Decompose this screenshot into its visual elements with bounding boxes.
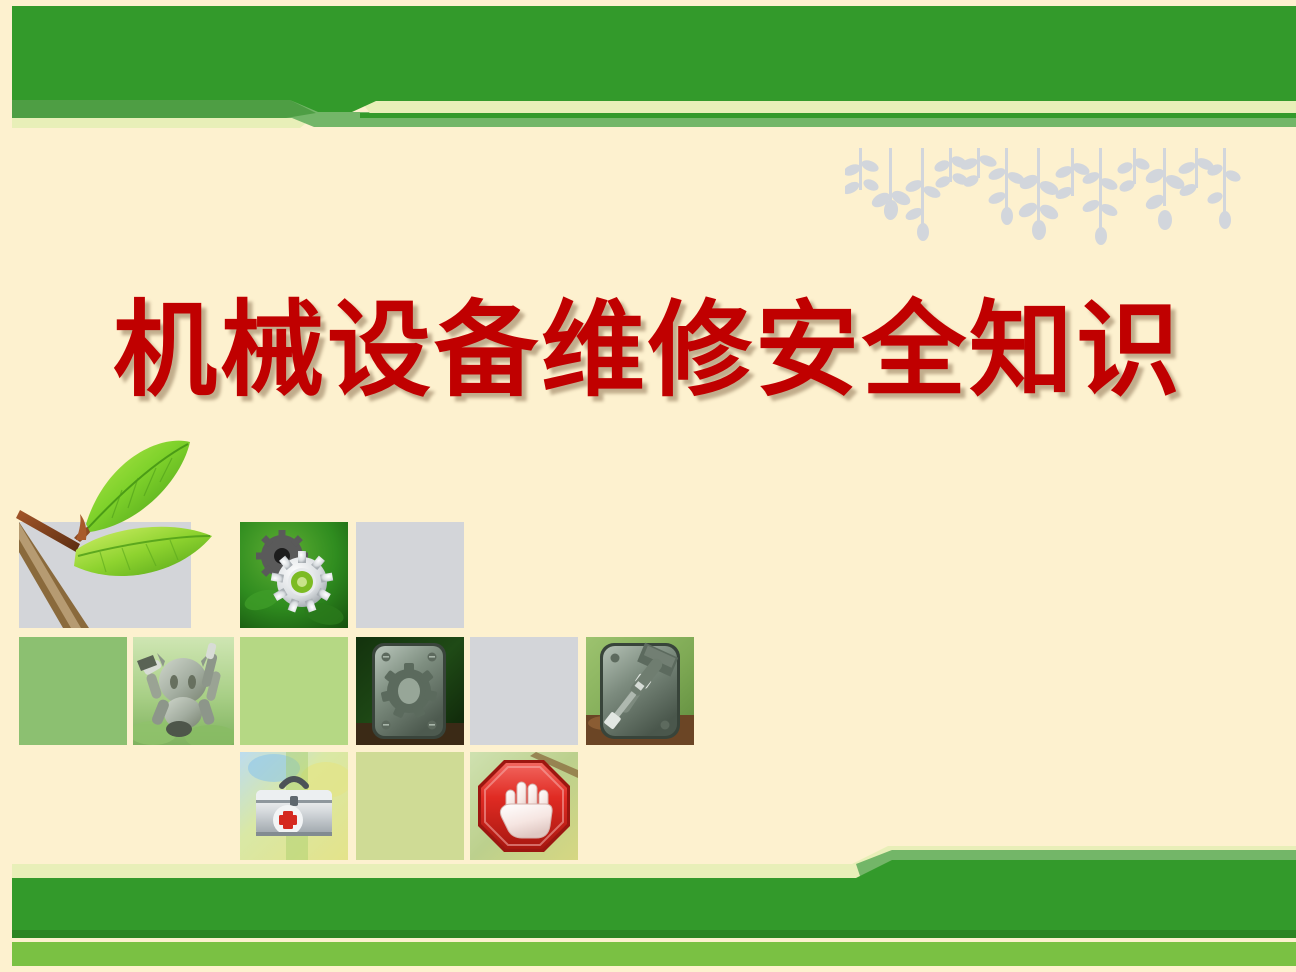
- tile-blank-green-1: [19, 637, 127, 745]
- tile-blank-gray-1: [356, 522, 464, 628]
- tile-blank-khaki-1: [356, 752, 464, 860]
- footer-layer-pale: [12, 846, 1296, 886]
- tile-robot-photo: [133, 637, 234, 745]
- slide-title: 机械设备维修安全知识: [0, 296, 1296, 405]
- tile-blank-gray-2: [470, 637, 578, 745]
- header-layer-dark-edge: [12, 100, 316, 118]
- header-layer-pale-left: [12, 6, 1296, 128]
- tile-tools-photo: [586, 637, 694, 745]
- header-layer-mid-green: [12, 100, 1296, 127]
- footer-band: [0, 842, 1296, 972]
- footer-layer-mid-green: [856, 850, 1296, 894]
- footer-lime-strip: [12, 942, 1296, 966]
- tile-firstaid-photo: [240, 752, 348, 860]
- hanging-vines-decoration: [845, 148, 1245, 263]
- tile-stop-photo: [470, 752, 578, 860]
- header-layer-main-green: [12, 6, 1296, 112]
- tile-blank-lime-1: [240, 637, 348, 745]
- tile-gear-plate-photo: [356, 637, 464, 745]
- header-layer-pale-right: [360, 100, 1296, 116]
- tile-gears-photo: [240, 522, 348, 628]
- presentation-slide: 机械设备维修安全知识: [0, 0, 1296, 972]
- footer-layer-main-green: [12, 860, 1296, 938]
- footer-dark-edge: [12, 930, 1296, 938]
- tile-branch-photo: [19, 522, 191, 628]
- header-band: [0, 0, 1296, 175]
- header-thin-rule: [360, 113, 1296, 118]
